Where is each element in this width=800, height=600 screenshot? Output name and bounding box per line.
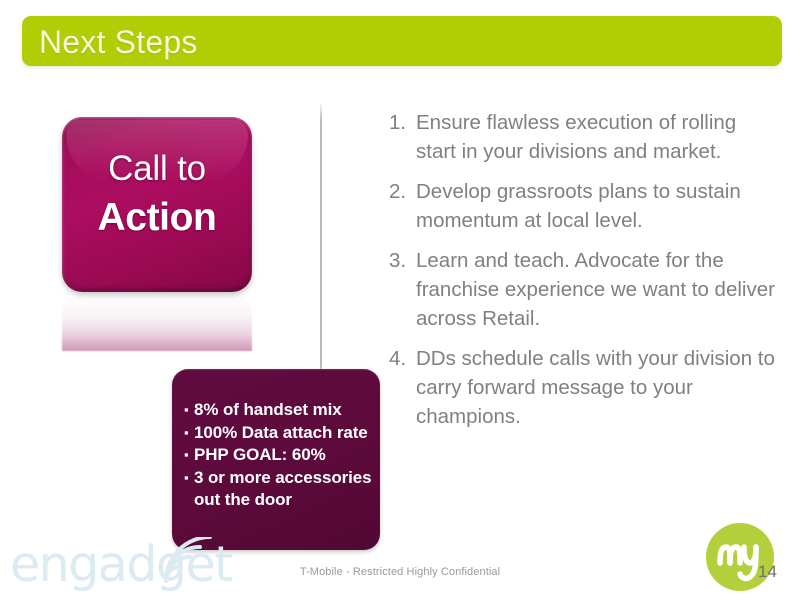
goal-text: PHP GOAL: 60% [194,444,374,467]
square-bullet-icon: ▪ [184,444,194,467]
goal-text: 3 or more accessories out the door [194,467,374,512]
list-item: 1. Ensure flawless execution of rolling … [389,108,781,166]
vertical-divider [320,104,322,382]
square-bullet-icon: ▪ [184,399,194,422]
slide-canvas: Next Steps Call to Action 1. Ensure flaw… [0,0,800,600]
goals-callout-box: ▪ 8% of handset mix ▪ 100% Data attach r… [172,369,380,550]
list-item: ▪ 8% of handset mix [184,399,374,422]
step-text: Ensure flawless execution of rolling sta… [413,108,781,166]
list-item: ▪ PHP GOAL: 60% [184,444,374,467]
step-text: Learn and teach. Advocate for the franch… [413,246,781,333]
title-banner: Next Steps [22,16,782,66]
step-number: 3. [389,246,413,333]
goals-list: ▪ 8% of handset mix ▪ 100% Data attach r… [184,399,374,512]
page-title: Next Steps [39,20,198,64]
page-number: 14 [758,562,777,582]
list-item: 3. Learn and teach. Advocate for the fra… [389,246,781,333]
call-to-action-tile: Call to Action [62,117,252,292]
list-item: 4. DDs schedule calls with your division… [389,344,781,431]
step-number: 2. [389,177,413,235]
square-bullet-icon: ▪ [184,467,194,490]
step-text: Develop grassroots plans to sustain mome… [413,177,781,235]
cta-line-two: Action [62,196,252,240]
square-bullet-icon: ▪ [184,422,194,445]
step-number: 4. [389,344,413,431]
list-item: 2. Develop grassroots plans to sustain m… [389,177,781,235]
cta-line-one: Call to [62,149,252,189]
step-text: DDs schedule calls with your division to… [413,344,781,431]
next-steps-list: 1. Ensure flawless execution of rolling … [389,108,781,442]
step-number: 1. [389,108,413,166]
call-to-action-graphic: Call to Action [62,117,252,292]
confidentiality-footer: T-Mobile - Restricted Highly Confidentia… [0,566,800,578]
cta-tile-reflection [62,293,252,351]
goal-text: 8% of handset mix [194,399,374,422]
goal-text: 100% Data attach rate [194,422,374,445]
list-item: ▪ 3 or more accessories out the door [184,467,374,512]
list-item: ▪ 100% Data attach rate [184,422,374,445]
